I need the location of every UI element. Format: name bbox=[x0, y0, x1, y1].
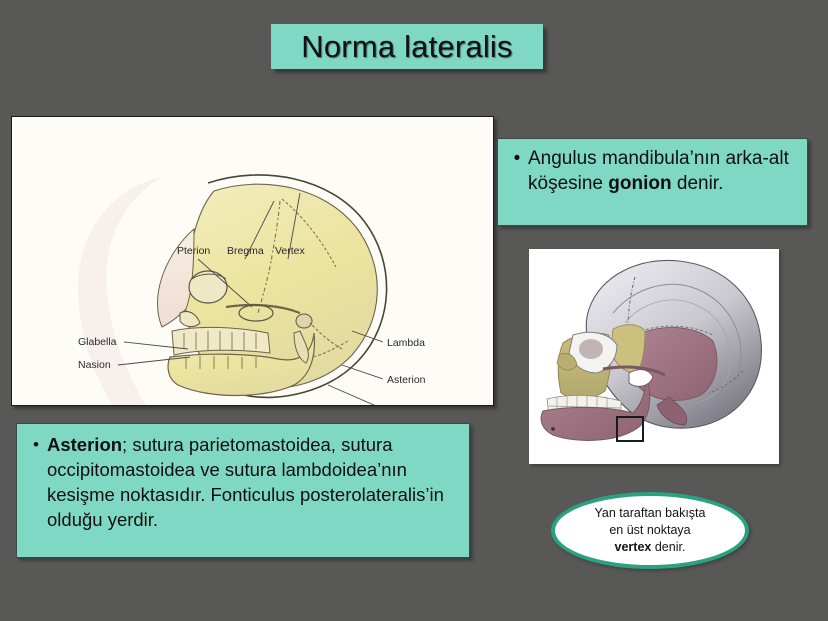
label-bregma: Bregma bbox=[227, 245, 264, 257]
skull-lateral-diagram: Pterion Bregma Vertex Glabella Nasion La… bbox=[12, 117, 493, 405]
vertex-line2: en üst noktaya bbox=[609, 523, 690, 537]
callout-vertex-text: Yan taraftan bakışta en üst noktaya vert… bbox=[585, 505, 716, 556]
gonion-term: gonion bbox=[608, 173, 671, 194]
label-nasion: Nasion bbox=[78, 359, 111, 371]
page-title: Norma lateralis bbox=[301, 29, 512, 65]
callout-asterion-text: Asterion; sutura parietomastoidea, sutur… bbox=[47, 432, 459, 532]
bullet-icon: • bbox=[25, 432, 47, 457]
vertex-term: vertex bbox=[615, 540, 652, 554]
skull-colored-illustration bbox=[529, 249, 779, 464]
bullet-icon: • bbox=[506, 147, 528, 171]
skull-lateral-diagram-panel: Pterion Bregma Vertex Glabella Nasion La… bbox=[11, 116, 494, 406]
label-lambda: Lambda bbox=[387, 337, 425, 349]
callout-asterion: • Asterion; sutura parietomastoidea, sut… bbox=[16, 423, 470, 558]
slide-title-band: Norma lateralis bbox=[271, 24, 543, 69]
label-pterion: Pterion bbox=[177, 245, 210, 257]
callout-vertex-oval: Yan taraftan bakışta en üst noktaya vert… bbox=[551, 492, 749, 569]
vertex-line1: Yan taraftan bakışta bbox=[595, 506, 706, 520]
label-glabella: Glabella bbox=[78, 336, 117, 348]
callout-gonion: • Angulus mandibula’nın arka-alt köşesin… bbox=[497, 138, 808, 226]
asterion-term: Asterion bbox=[47, 434, 122, 455]
label-inion: Inion bbox=[387, 404, 410, 405]
gonion-text-after: denir. bbox=[672, 173, 724, 194]
skull-colored-illustration-panel bbox=[529, 249, 779, 464]
label-asterion: Asterion bbox=[387, 374, 426, 386]
callout-gonion-text: Angulus mandibula’nın arka-alt köşesine … bbox=[528, 147, 797, 196]
label-vertex: Vertex bbox=[275, 245, 306, 257]
vertex-line3-after: denir. bbox=[651, 540, 685, 554]
